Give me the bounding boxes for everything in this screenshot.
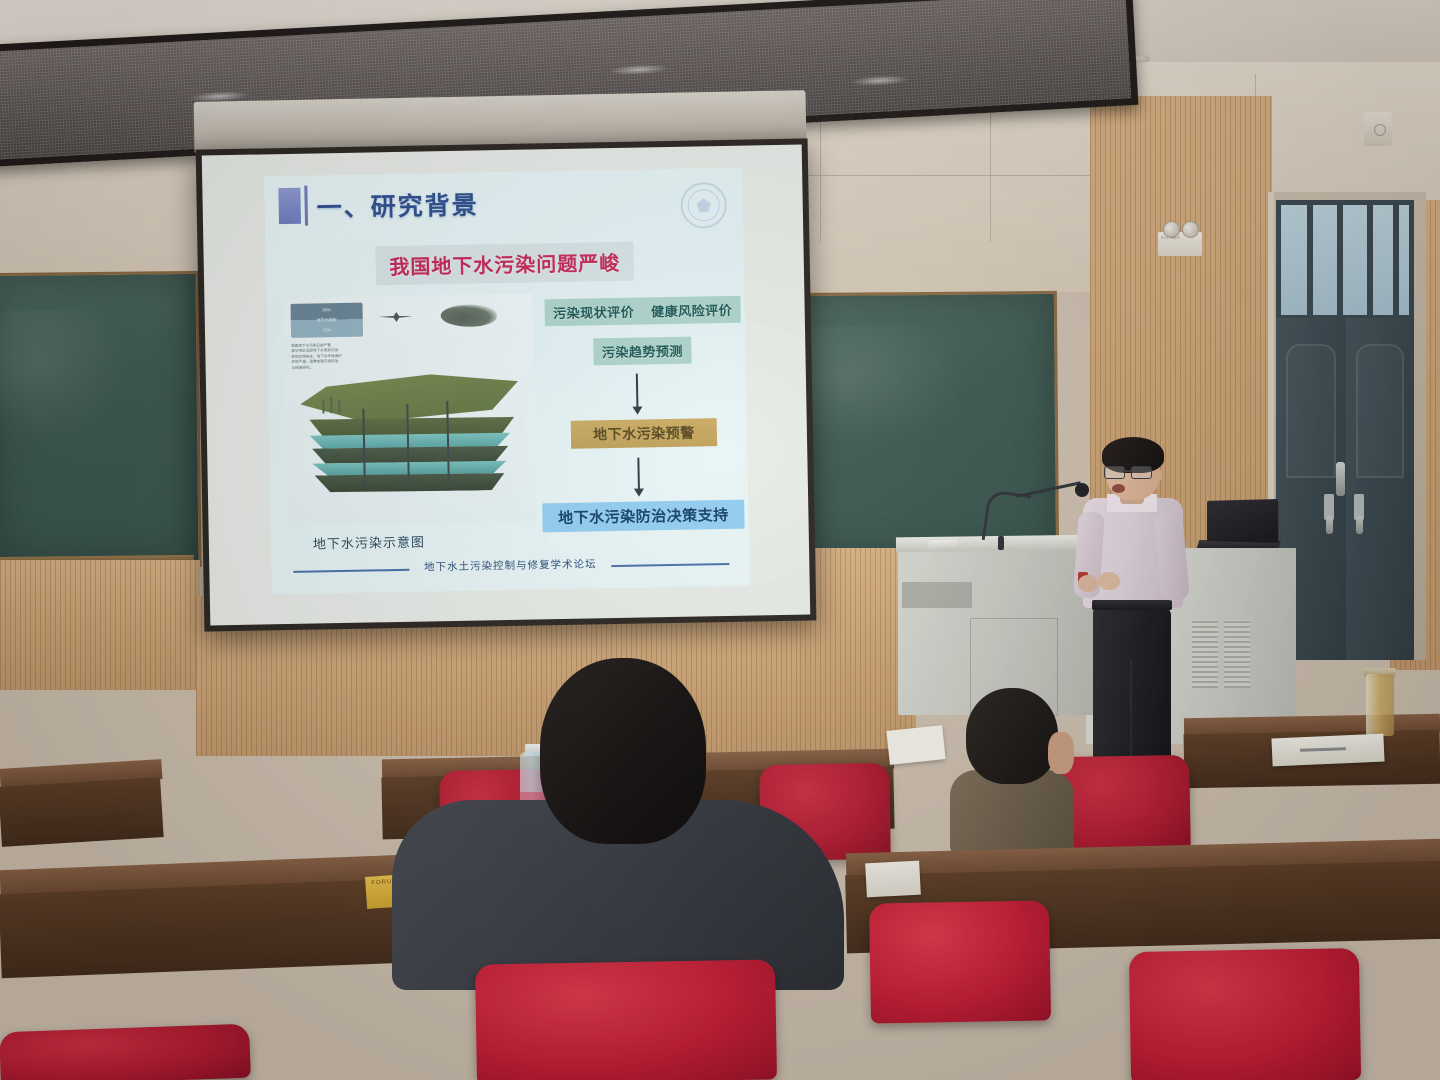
door-handle[interactable] (1336, 462, 1345, 496)
lecture-hall-scene: 一、研究背景 我国地下水污染问题严峻 80% 地下水超标 32% 不宜饮用水源 … (0, 0, 1440, 1080)
door-knob[interactable] (1326, 516, 1333, 534)
door-panel (1356, 344, 1404, 478)
flow-box-pollution-status: 污染现状评价 (544, 297, 642, 326)
screen-surface: 一、研究背景 我国地下水污染问题严峻 80% 地下水超标 32% 不宜饮用水源 … (202, 145, 811, 626)
sensor-lens-icon (1374, 124, 1386, 136)
flow-box-early-warning: 地下水污染预警 (571, 418, 717, 449)
glasses-bridge (1123, 470, 1131, 472)
door-knob[interactable] (1356, 516, 1363, 534)
lectern-shelf (902, 582, 972, 608)
tea-tumbler[interactable] (1366, 674, 1394, 736)
groundwater-illustration: 80% 地下水超标 32% 不宜饮用水源 我国地下水污染日益严重 部分地区浅层地… (282, 294, 536, 527)
wainscot-right (800, 548, 910, 756)
mesh-glare (850, 74, 910, 87)
vegetation-icon (338, 400, 340, 413)
desk-left-front (0, 777, 164, 847)
transom-mullion (1337, 205, 1343, 315)
microphone-head-icon (1075, 483, 1089, 497)
presenter-right-hand (1098, 572, 1120, 590)
transom-mullion (1367, 205, 1373, 315)
illustration-description-text: 我国地下水污染日益严重 部分地区浅层地下水受到污染 影响饮用安全，地下水环境保护… (291, 342, 369, 370)
microphone-gooseneck (982, 489, 1032, 545)
slide-accent-bar (278, 188, 301, 224)
illustration-caption: 地下水污染示意图 (313, 532, 425, 553)
slide-accent-rule (304, 186, 308, 226)
presentation-slide: 一、研究背景 我国地下水污染问题严峻 80% 地下水超标 32% 不宜饮用水源 … (264, 168, 750, 595)
glasses-lens-left (1104, 466, 1125, 479)
terrain-cutaway (300, 372, 520, 506)
cabinet-vent (1192, 620, 1218, 688)
notepad[interactable] (865, 861, 921, 898)
seat-front-c[interactable] (869, 900, 1051, 1023)
glasses-lens-right (1131, 466, 1152, 479)
door-transom-window (1276, 200, 1414, 320)
seat-front-d[interactable] (0, 1024, 251, 1080)
presenter-mouth (1112, 484, 1125, 493)
flow-box-trend-forecast: 污染趋势预测 (593, 337, 691, 366)
presenter-left-hand (1078, 575, 1098, 592)
glasses-icon (1104, 466, 1154, 477)
mesh-glare (609, 63, 669, 76)
smokestack-plume-icon (441, 304, 497, 327)
statistic-infobox: 80% 地下水超标 32% 不宜饮用水源 (290, 303, 363, 338)
chalkboard-left (0, 271, 202, 569)
audience-member-front-head (540, 658, 706, 844)
wainscot-left (0, 560, 200, 690)
presenter-legs (1093, 607, 1171, 765)
flow-arrow-down (636, 374, 639, 408)
chalk-eraser[interactable] (928, 539, 958, 549)
university-seal-icon (680, 182, 727, 229)
emergency-lamp-icon (1182, 221, 1199, 238)
flow-box-health-risk: 健康风险评价 (642, 296, 740, 325)
vegetation-icon (322, 399, 324, 413)
flow-arrow-down (637, 458, 640, 490)
door-leaf-right[interactable] (1346, 318, 1414, 660)
paper-sheet[interactable] (886, 725, 945, 765)
vegetation-icon (330, 397, 332, 413)
emergency-light-fixture: EXIT LIGHT (1158, 232, 1202, 256)
transom-mullion (1307, 205, 1313, 315)
slide-headline: 我国地下水污染问题严峻 (375, 242, 634, 286)
slide-footer: 地下水土污染控制与修复学术论坛 (271, 554, 749, 578)
laptop-screen[interactable] (1207, 499, 1278, 543)
presenter-leg-seam (1130, 660, 1132, 765)
presenter-belt (1092, 600, 1172, 610)
seat-front-b[interactable] (1129, 948, 1361, 1080)
emergency-light-label: EXIT LIGHT (1161, 236, 1180, 241)
transom-mullion (1393, 205, 1399, 315)
slide-title: 一、研究背景 (316, 185, 479, 224)
audience-member-right-face (1048, 732, 1074, 774)
audience-member-right-head (966, 688, 1058, 784)
projection-screen: 一、研究背景 我国地下水污染问题严峻 80% 地下水超标 32% 不宜饮用水源 … (196, 138, 817, 631)
seat-front-a[interactable] (475, 959, 777, 1080)
cabinet-vent (1224, 620, 1250, 688)
flow-box-decision-support: 地下水污染防治决策支持 (542, 500, 744, 533)
door-panel (1286, 344, 1336, 478)
